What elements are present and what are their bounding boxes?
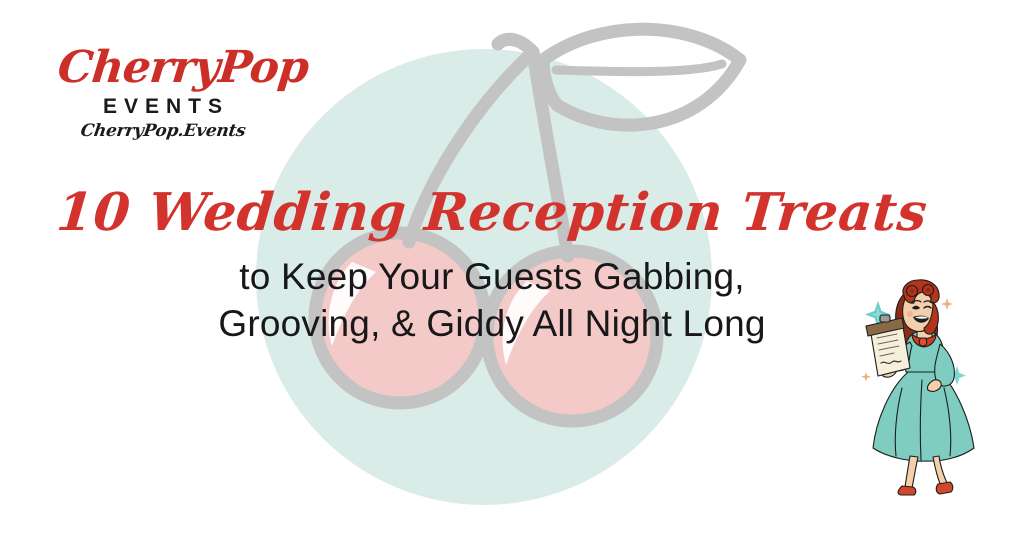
woman-with-clipboard-illustration <box>850 268 1000 496</box>
subtitle-line-2: Grooving, & Giddy All Night Long <box>0 301 984 346</box>
leg-right <box>933 456 947 486</box>
page-title: 10 Wedding Reception Treats <box>0 186 986 239</box>
scarf-knot <box>919 338 926 346</box>
blog-header-banner: CherryPop EVENTS CherryPop.Events 10 Wed… <box>0 0 1024 535</box>
logo-url-text: CherryPop.Events <box>57 123 269 140</box>
dress-skirt <box>873 372 974 461</box>
clipboard-icon <box>866 315 910 376</box>
brand-logo[interactable]: CherryPop EVENTS CherryPop.Events <box>58 46 268 140</box>
cheek-blush <box>907 311 913 317</box>
logo-subword: EVENTS <box>64 96 268 117</box>
logo-wordmark: CherryPop <box>56 46 271 89</box>
shoe-left <box>898 486 916 495</box>
leg-left <box>905 456 918 488</box>
shoe-right <box>936 482 953 494</box>
cherry-leaf-vein <box>556 64 722 72</box>
subtitle-line-1: to Keep Your Guests Gabbing, <box>0 254 984 299</box>
